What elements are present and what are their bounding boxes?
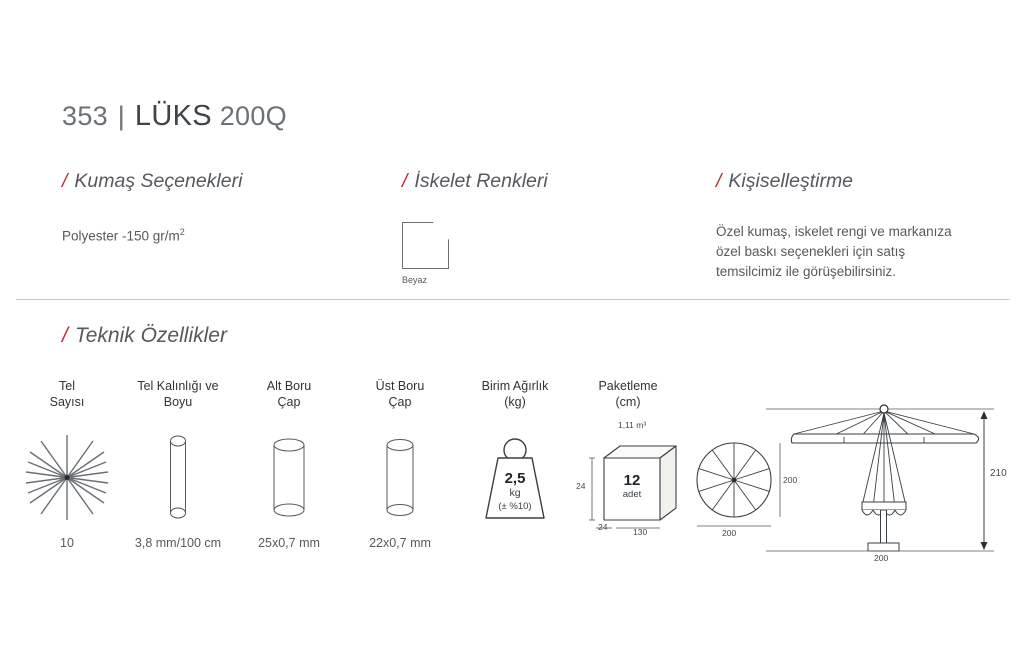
color-swatch-beyaz[interactable]: Beyaz <box>402 222 449 285</box>
section-heading-frame-colors: /İskelet Renkleri <box>402 170 548 193</box>
spec-header-text: Paketleme (cm) <box>578 378 678 410</box>
spec-header-tel-kalinligi: Tel Kalınlığı ve Boyu <box>122 378 234 410</box>
spec-header-birim-agirlik: Birim Ağırlık (kg) <box>460 378 570 410</box>
spec-header-text: Üst Boru Çap <box>355 378 445 410</box>
spec-value-tel-sayisi: 10 <box>22 536 112 550</box>
spec-header-text: Tel Sayısı <box>22 378 112 410</box>
frame-colors-heading-text: İskelet Renkleri <box>414 170 547 192</box>
upper-tube-icon <box>355 430 445 525</box>
section-heading-customization: /Kişiselleştirme <box>716 170 853 193</box>
fabric-value-superscript: 2 <box>180 227 185 237</box>
spec-header-text: Tel Kalınlığı ve Boyu <box>122 378 234 410</box>
package-quantity-unit: adet <box>604 489 660 501</box>
side-view-height-dim: 210 <box>990 468 1007 479</box>
spec-value-alt-boru: 25x0,7 mm <box>244 536 334 550</box>
technical-heading-text: Teknik Özellikler <box>75 324 227 347</box>
title-separator: | <box>116 101 127 131</box>
red-slash-icon: / <box>62 324 68 347</box>
product-spec-sheet: 353 | LÜKS 200Q /Kumaş Seçenekleri Polye… <box>0 0 1024 659</box>
spec-value-ust-boru: 22x0,7 mm <box>355 536 445 550</box>
spec-value-tel-kalinligi: 3,8 mm/100 cm <box>122 536 234 550</box>
side-view-drawing: 210 200 <box>766 398 1016 558</box>
package-icon: 1,11 m³ 24 24 130 12 adet <box>576 432 686 537</box>
spec-header-ust-boru: Üst Boru Çap <box>355 378 445 410</box>
customization-line-3: temsilcimiz ile görüşebilirsiniz. <box>716 262 966 282</box>
customization-text: Özel kumaş, iskelet rengi ve markanıza ö… <box>716 222 966 282</box>
lower-tube-icon <box>244 430 334 525</box>
section-heading-fabric: /Kumaş Seçenekleri <box>62 170 242 193</box>
spec-header-paketleme: Paketleme (cm) <box>578 378 678 410</box>
spec-header-text: Birim Ağırlık (kg) <box>460 378 570 410</box>
fabric-value: Polyester -150 gr/m2 <box>62 222 185 247</box>
package-width-dim: 130 <box>633 527 647 537</box>
package-quantity: 12 <box>604 472 660 489</box>
product-model: LÜKS <box>135 100 212 132</box>
swatch-chip-icon <box>402 222 449 269</box>
spokes-icon <box>22 430 112 525</box>
red-slash-icon: / <box>716 170 721 192</box>
weight-tolerance: (± %10) <box>460 500 570 513</box>
weight-unit: kg <box>460 487 570 500</box>
customization-line-1: Özel kumaş, iskelet rengi ve markanıza <box>716 222 966 242</box>
fabric-heading-text: Kumaş Seçenekleri <box>74 170 242 192</box>
top-view-diameter-bottom: 200 <box>722 528 736 538</box>
package-depth-dim: 24 <box>598 522 607 532</box>
package-height-dim: 24 <box>576 481 585 491</box>
side-view-width-dim: 200 <box>874 553 888 563</box>
spec-header-text: Alt Boru Çap <box>244 378 334 410</box>
fabric-value-text: Polyester -150 gr/m <box>62 229 180 244</box>
spec-header-alt-boru: Alt Boru Çap <box>244 378 334 410</box>
swatch-label: Beyaz <box>402 275 449 285</box>
customization-heading-text: Kişiselleştirme <box>728 170 853 192</box>
package-volume: 1,11 m³ <box>618 420 646 430</box>
weight-amount: 2,5 <box>460 470 570 487</box>
red-slash-icon: / <box>62 170 67 192</box>
weight-icon: 2,5 kg (± %10) <box>460 424 570 524</box>
customization-line-2: özel baskı seçenekleri için satış <box>716 242 966 262</box>
section-heading-technical: /Teknik Özellikler <box>62 324 227 348</box>
product-code: 353 <box>62 101 108 131</box>
red-slash-icon: / <box>402 170 407 192</box>
wire-cylinder-icon <box>122 430 234 525</box>
product-size: 200Q <box>220 101 287 131</box>
page-title: 353 | LÜKS 200Q <box>62 100 287 133</box>
section-divider <box>16 299 1010 300</box>
spec-header-tel-sayisi: Tel Sayısı <box>22 378 112 410</box>
